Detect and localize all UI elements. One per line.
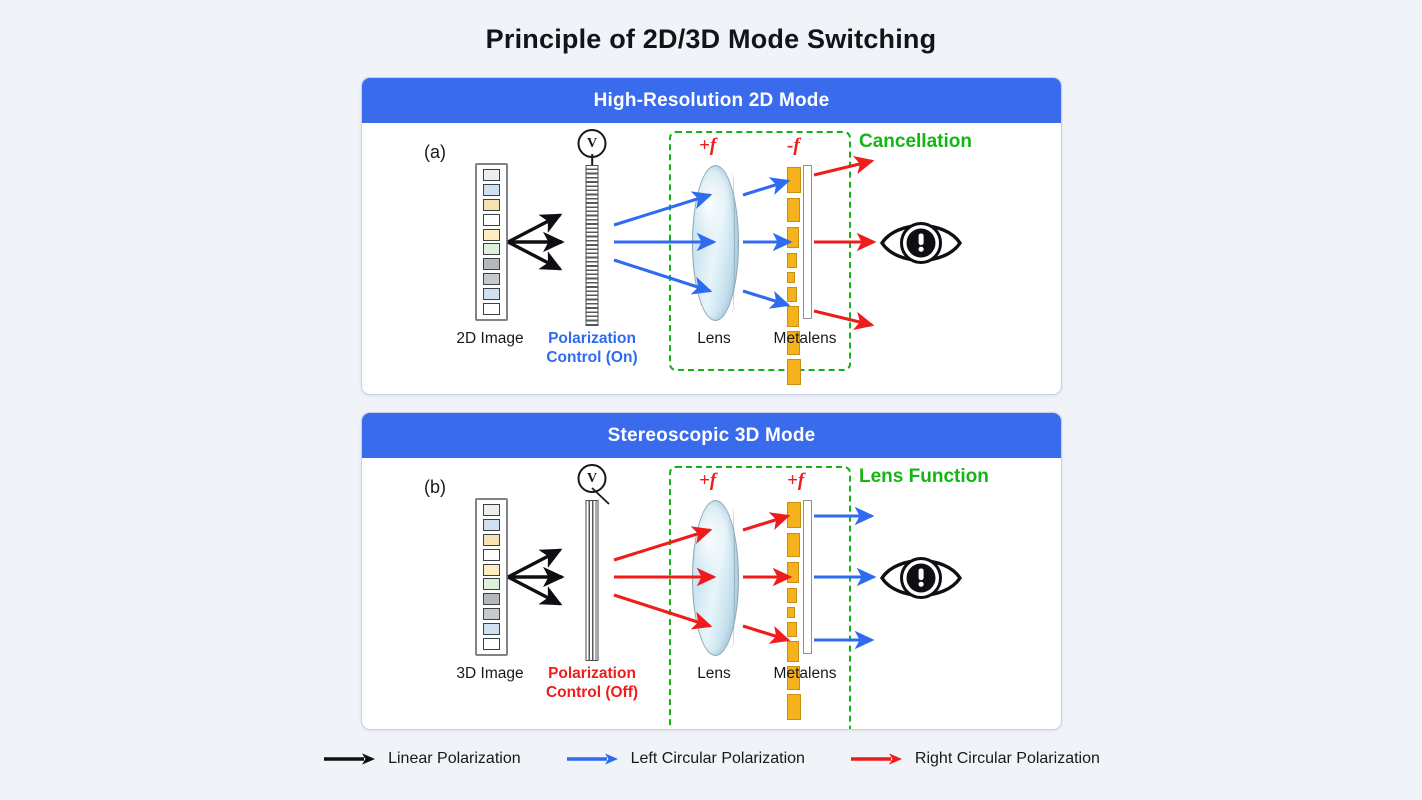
metalens-element-a [787,165,812,319]
image-pixel [483,534,500,546]
image-pixel [483,638,500,650]
panel-b-sub-label: (b) [424,477,446,498]
label-metalens-b: Metalens [759,664,851,683]
metalens-nanopillar [787,694,801,720]
metalens-nanopillar [787,198,800,222]
legend-label: Left Circular Polarization [631,750,805,768]
metalens-nanopillar [787,502,801,528]
legend-label: Linear Polarization [388,750,521,768]
polarization-control-on[interactable]: V [567,129,617,329]
polarization-control-off[interactable]: V [567,464,617,664]
panel-a-header: High-Resolution 2D Mode [362,78,1061,123]
image-pixel [483,273,500,285]
label-metalens-a: Metalens [759,329,851,348]
lens-focal-label-a: +f [699,135,716,157]
image-pixel [483,623,500,635]
diagram-canvas: Principle of 2D/3D Mode Switching High-R… [0,0,1422,800]
polarization-line-2: Control (On) [546,349,637,366]
label-lens-a: Lens [674,329,754,348]
metalens-nanopillar [787,272,795,283]
metalens-nanopillar [787,306,799,327]
arrow-right-icon [322,751,378,767]
image-pixel [483,519,500,531]
linear-polarization-rays-a [508,215,562,269]
panel-b-body: (b) 3D Image V Polarization Control (Off… [362,458,1061,729]
linear-polarization-rays-b [508,550,562,604]
legend-item: Right Circular Polarization [849,750,1100,768]
metalens-nanopillar [787,287,797,302]
image-pixel [483,169,500,181]
legend-label: Right Circular Polarization [915,750,1100,768]
label-polarization-control-on: Polarization Control (On) [532,329,652,368]
lens-element-a [692,165,739,321]
metalens-nanopillar [787,641,799,662]
image-pixel [483,549,500,561]
observer-eye-a [879,215,963,271]
image-pixel [483,578,500,590]
page-title: Principle of 2D/3D Mode Switching [0,24,1422,55]
image-pixel [483,608,500,620]
image-pixel [483,564,500,576]
label-lens-b: Lens [674,664,754,683]
effect-note-lens-function: Lens Function [859,465,989,489]
observer-eye-b [879,550,963,606]
metalens-focal-label-b: +f [787,470,804,492]
legend: Linear PolarizationLeft Circular Polariz… [0,750,1422,768]
image-pixel [483,303,500,315]
legend-item: Linear Polarization [322,750,521,768]
polarizer-bar-unenergized [586,500,599,661]
metalens-nanopillar [787,533,800,557]
metalens-element-b [787,500,812,654]
lens-element-b [692,500,739,656]
image-strip-2d [475,163,508,321]
lens-focal-label-b: +f [699,470,716,492]
metalens-substrate-a [803,165,812,319]
polarization-line-1: Polarization [548,665,636,682]
image-pixel [483,288,500,300]
panel-stereoscopic-3d-mode: Stereoscopic 3D Mode (b) 3D Image V Pola… [361,412,1062,730]
panel-b-header: Stereoscopic 3D Mode [362,413,1061,458]
polarization-line-1: Polarization [548,330,636,347]
image-pixel [483,199,500,211]
image-pixel [483,593,500,605]
image-pixel [483,243,500,255]
polarization-line-2: Control (Off) [546,684,638,701]
metalens-nanopillar [787,588,797,603]
metalens-nanopillar [787,622,797,637]
legend-item: Left Circular Polarization [565,750,805,768]
metalens-nanopillar [787,359,801,385]
polarizer-bar-energized [586,165,599,326]
panel-high-resolution-2d-mode: High-Resolution 2D Mode (a) 2D Image V P… [361,77,1062,395]
metalens-nanopillar [787,167,801,193]
label-polarization-control-off: Polarization Control (Off) [532,664,652,703]
metalens-nanopillar [787,227,799,248]
metalens-substrate-b [803,500,812,654]
effect-note-cancellation: Cancellation [859,130,972,154]
image-pixel [483,229,500,241]
voltage-stem-connected [591,154,593,165]
arrow-right-icon [849,751,905,767]
panel-a-body: (a) 2D Image V Polarization Control (On)… [362,123,1061,394]
image-pixel [483,258,500,270]
metalens-nanopillar [787,607,795,618]
metalens-focal-label-a: -f [787,135,800,157]
arrow-right-icon [565,751,621,767]
panel-a-sub-label: (a) [424,142,446,163]
metalens-nanopillar [787,253,797,268]
image-pixel [483,214,500,226]
image-strip-3d [475,498,508,656]
metalens-nanopillar [787,562,799,583]
image-pixel [483,504,500,516]
image-pixel [483,184,500,196]
